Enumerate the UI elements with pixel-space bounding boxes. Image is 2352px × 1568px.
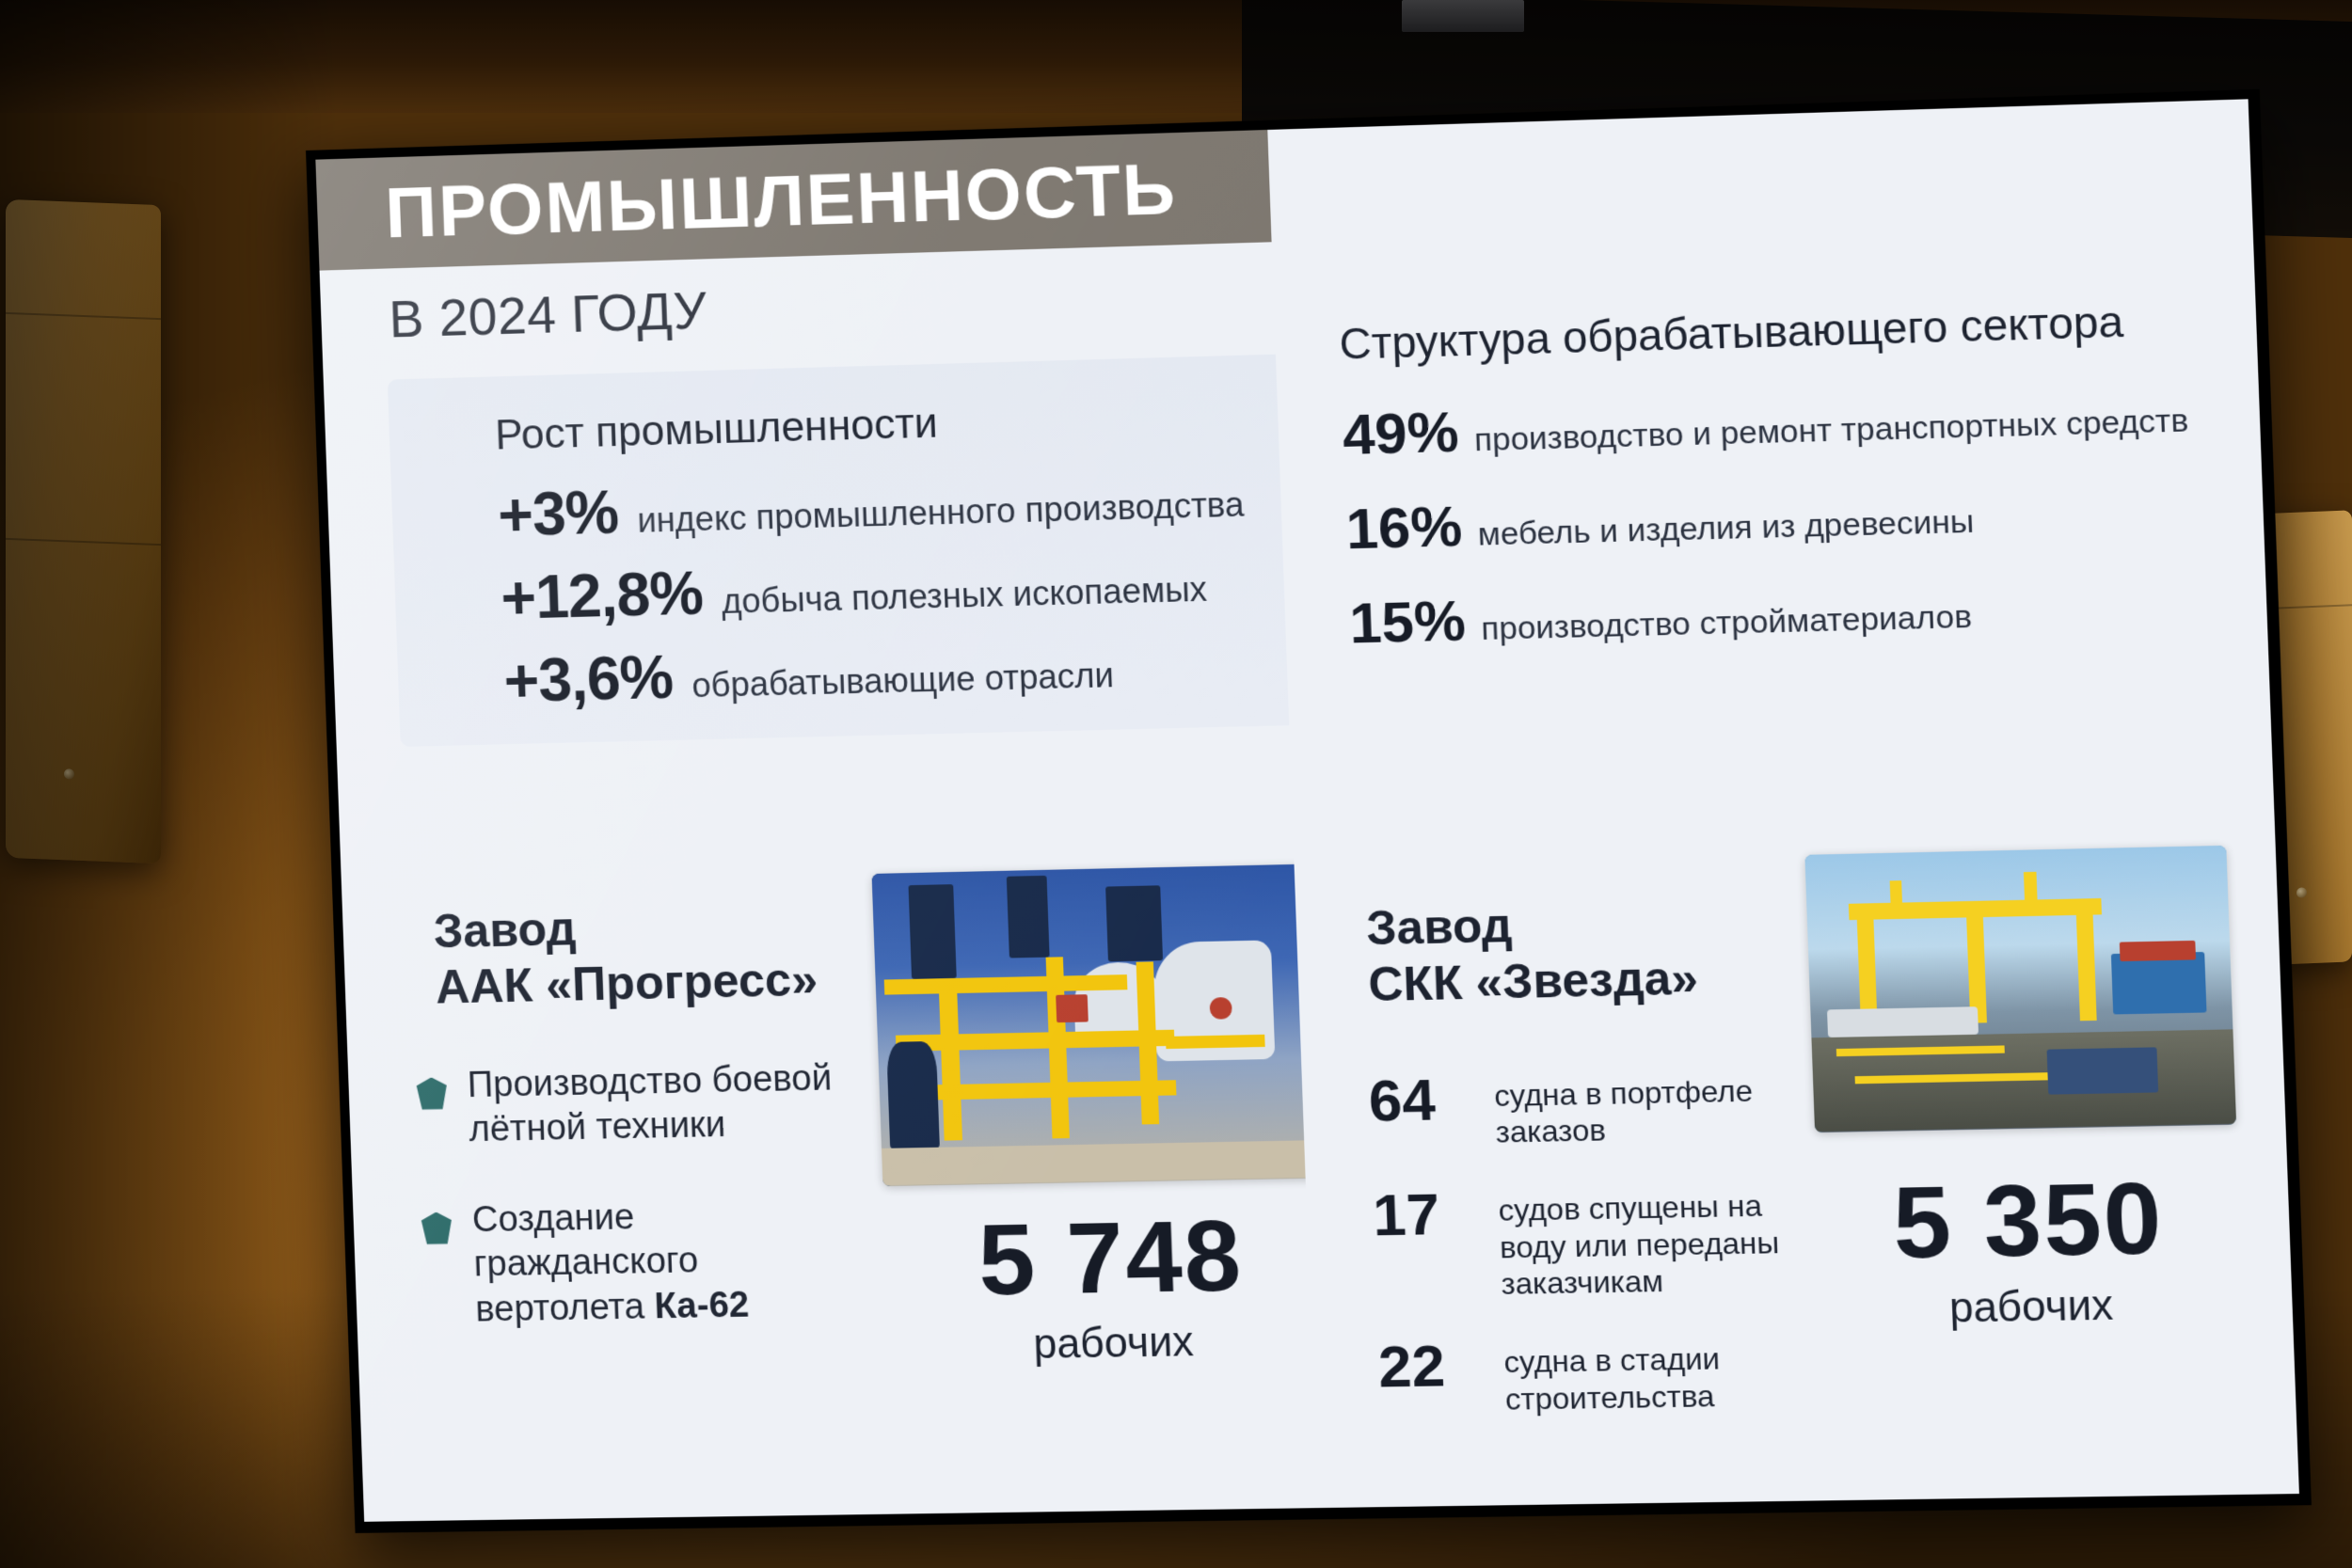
progress-bullet-text-bold: Ка-62 [654, 1285, 750, 1326]
zvezda-stat-value: 17 [1372, 1185, 1480, 1246]
progress-bullet-text: Производство боевой лётной техники [467, 1056, 845, 1153]
growth-stat-label: добыча полезных ископаемых [721, 569, 1207, 622]
pentagon-bullet-icon [416, 1077, 447, 1110]
list-item: Производство боевой лётной техники [416, 1056, 846, 1154]
growth-stat-row: +3,6% обрабатывающие отрасли [502, 631, 1115, 717]
zvezda-plant-name-line1: Завод [1365, 898, 1513, 955]
progress-bullet-list: Производство боевой лётной техники Созда… [416, 1056, 853, 1379]
progress-headcount-value: 5 748 [977, 1199, 1245, 1316]
progress-factory-photo [871, 863, 1316, 1186]
ceiling-fixture [1402, 0, 1524, 32]
zvezda-stat-label: судна в портфеле заказов [1493, 1064, 1788, 1150]
manufacturing-structure-card: Структура обрабатывающего сектора 49% пр… [1339, 293, 2230, 685]
growth-stat-value: +3,6% [502, 641, 674, 716]
structure-stat-row: 49% производство и ремонт транспортных с… [1342, 377, 2221, 467]
videowall-tile-bottom-right: Завод СКК «Звезда» 64 судна в портфеле з… [1299, 800, 2299, 1508]
photographed-videowall-scene: ПРОМЫШЛЕННОСТЬ В 2024 ГОДУ Рост промышле… [0, 0, 2352, 1568]
growth-card-heading: Рост промышленности [494, 400, 938, 459]
zvezda-headcount-caption: рабочих [1812, 1279, 2251, 1335]
progress-headcount: 5 748 рабочих [880, 1196, 1317, 1370]
structure-stat-value: 15% [1348, 588, 1467, 657]
progress-plant-name: Завод ААК «Прогресс» [433, 895, 818, 1015]
structure-card-heading: Структура обрабатывающего сектора [1339, 293, 2218, 370]
structure-stat-label: мебель и изделия из древесины [1477, 503, 1975, 554]
presentation-slide: ПРОМЫШЛЕННОСТЬ В 2024 ГОДУ Рост промышле… [315, 99, 2299, 1521]
videowall-tile-bottom-left: Завод ААК «Прогресс» Производство боевой… [340, 822, 1316, 1522]
slide-title-bar: ПРОМЫШЛЕННОСТЬ [315, 130, 1292, 271]
zvezda-stat-row: 22 судна в стадии строительства [1377, 1332, 1797, 1419]
zvezda-stat-row: 17 судов спущены на воду или переданы за… [1372, 1180, 1793, 1305]
zvezda-stat-list: 64 судна в портфеле заказов 17 судов спу… [1368, 1064, 1799, 1454]
zvezda-stat-label: судов спущены на воду или переданы заказ… [1498, 1180, 1793, 1303]
zvezda-headcount: 5 350 рабочих [1808, 1159, 2251, 1335]
growth-stat-label: индекс промышленного производства [637, 484, 1246, 541]
progress-plant-name-line1: Завод [433, 902, 577, 958]
zvezda-stat-value: 22 [1377, 1337, 1486, 1398]
growth-stat-row: +12,8% добыча полезных ископаемых [500, 545, 1208, 633]
speaker-screw-right [2296, 887, 2307, 897]
structure-stat-value: 49% [1342, 399, 1460, 467]
zvezda-plant-name: Завод СКК «Звезда» [1365, 894, 1699, 1013]
videowall-tile-top-right: Структура обрабатывающего сектора 49% пр… [1274, 99, 2274, 815]
progress-headcount-caption: рабочих [884, 1316, 1317, 1371]
zvezda-shipyard-photo [1804, 845, 2236, 1132]
zvezda-plant-name-line2: СКК «Звезда» [1367, 951, 1698, 1011]
zvezda-headcount-value: 5 350 [1891, 1162, 2165, 1280]
growth-stat-row: +3% индекс промышленного производства [497, 460, 1245, 550]
progress-plant-name-line2: ААК «Прогресс» [435, 952, 818, 1013]
industry-growth-card: Рост промышленности +3% индекс промышлен… [388, 330, 1292, 747]
structure-stat-row: 16% мебель и изделия из древесины [1345, 473, 2225, 562]
growth-stat-value: +3% [497, 477, 619, 550]
videowall-bezel: ПРОМЫШЛЕННОСТЬ В 2024 ГОДУ Рост промышле… [306, 89, 2312, 1533]
structure-stat-value: 16% [1345, 493, 1464, 562]
videowall-tile-top-left: ПРОМЫШЛЕННОСТЬ В 2024 ГОДУ Рост промышле… [315, 130, 1292, 837]
structure-stat-label: производство и ремонт транспортных средс… [1474, 403, 2189, 460]
slide-title: ПРОМЫШЛЕННОСТЬ [384, 148, 1178, 254]
slide-subtitle: В 2024 ГОДУ [388, 279, 707, 349]
structure-stat-row: 15% производство стройматериалов [1348, 568, 2228, 657]
growth-stat-label: обрабатывающие отрасли [691, 656, 1115, 705]
list-item: Создание гражданского вертолета Ка-62 [421, 1191, 851, 1333]
progress-bullet-text: Создание гражданского вертолета Ка-62 [471, 1191, 851, 1332]
zvezda-stat-row: 64 судна в портфеле заказов [1368, 1064, 1788, 1153]
structure-stat-label: производство стройматериалов [1481, 598, 1973, 648]
growth-stat-value: +12,8% [500, 558, 704, 633]
zvezda-stat-label: судна в стадии строительства [1503, 1332, 1798, 1418]
pentagon-bullet-icon [421, 1212, 453, 1244]
zvezda-stat-value: 64 [1368, 1069, 1476, 1131]
